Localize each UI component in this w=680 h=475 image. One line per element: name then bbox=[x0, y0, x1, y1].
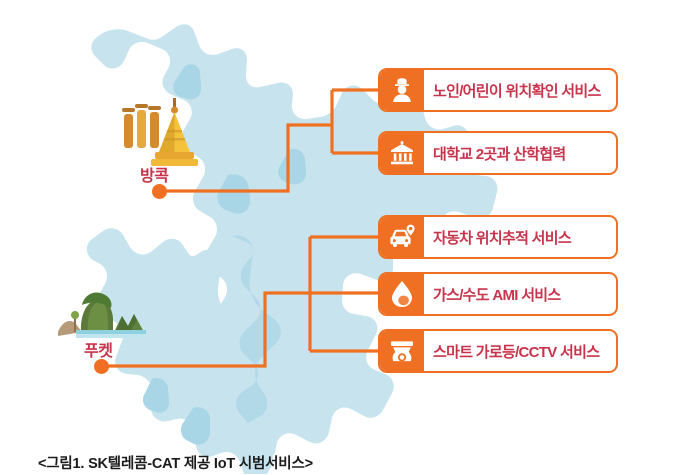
pagoda-pillar-1 bbox=[124, 114, 133, 148]
car-with-pin-icon bbox=[380, 217, 424, 257]
service-box-university-cooperation[interactable]: 대학교 2곳과 산학협력 bbox=[378, 131, 618, 175]
service-box-gas-water-ami[interactable]: 가스/수도 AMI 서비스 bbox=[378, 272, 618, 316]
golden-pagoda-icon bbox=[118, 98, 200, 168]
city-dot-phuket[interactable] bbox=[94, 359, 109, 374]
service-label: 노인/어린이 위치확인 서비스 bbox=[424, 70, 616, 110]
service-label: 스마트 가로등/CCTV 서비스 bbox=[424, 331, 616, 371]
pagoda-pillar-2 bbox=[137, 110, 146, 148]
service-label: 가스/수도 AMI 서비스 bbox=[424, 274, 616, 314]
city-label-phuket: 푸켓 bbox=[84, 337, 112, 361]
pagoda-base bbox=[155, 152, 194, 159]
city-dot-bangkok[interactable] bbox=[152, 184, 167, 199]
service-label: 대학교 2곳과 산학협력 bbox=[424, 133, 616, 173]
pagoda-pillar-3 bbox=[150, 112, 159, 148]
figure-container: 방콕 푸켓 노인/어린이 위치확인 서비스 bbox=[0, 0, 680, 475]
service-label: 자동차 위치추적 서비스 bbox=[424, 217, 616, 257]
service-box-smart-streetlight-cctv[interactable]: 스마트 가로등/CCTV 서비스 bbox=[378, 329, 618, 373]
service-box-vehicle-tracking[interactable]: 자동차 위치추적 서비스 bbox=[378, 215, 618, 259]
city-label-bangkok: 방콕 bbox=[140, 162, 168, 186]
water-drop-icon bbox=[380, 274, 424, 314]
service-box-elder-child-location[interactable]: 노인/어린이 위치확인 서비스 bbox=[378, 68, 618, 112]
classical-building-icon bbox=[380, 133, 424, 173]
green-island-icon bbox=[58, 288, 148, 344]
cctv-camera-icon bbox=[380, 331, 424, 371]
figure-caption: <그림1. SK텔레콤-CAT 제공 IoT 시범서비스> bbox=[38, 452, 313, 473]
person-with-cap-icon bbox=[380, 70, 424, 110]
